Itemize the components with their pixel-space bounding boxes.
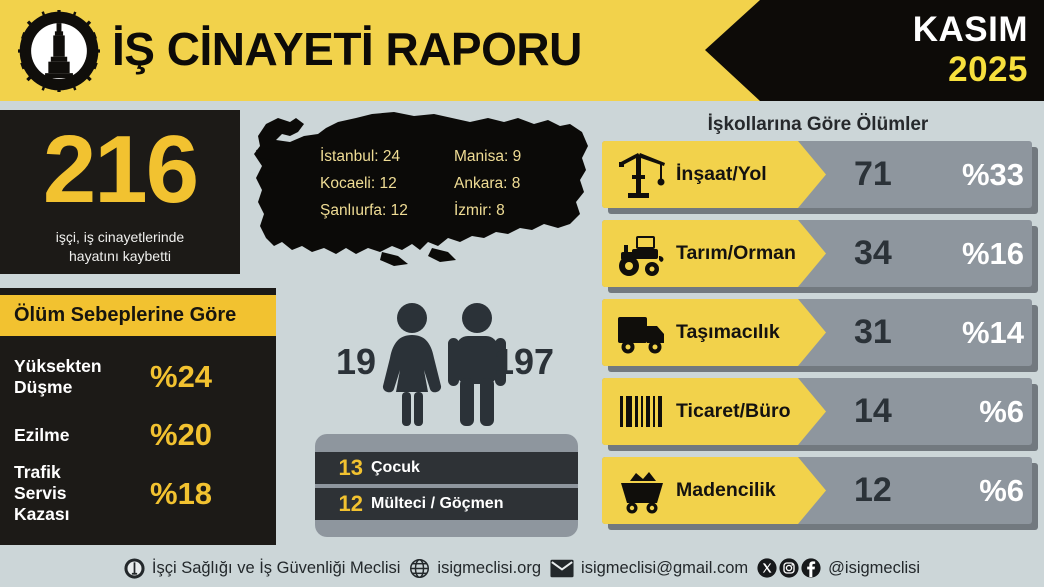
- cause-percent: %20: [150, 418, 212, 452]
- x-twitter-icon[interactable]: [757, 558, 777, 578]
- sector-percent: %14: [962, 299, 1024, 366]
- cause-label: Trafik Servis Kazası: [0, 462, 150, 525]
- cause-percent: %18: [150, 477, 212, 511]
- cause-label-line: Servis: [14, 483, 150, 504]
- truck-icon: [616, 307, 668, 358]
- report-month: KASIM: [913, 10, 1028, 50]
- city-item: İstanbul: 24: [320, 144, 436, 169]
- mine-cart-icon: [616, 465, 668, 516]
- cause-percent: %24: [150, 360, 212, 394]
- city-death-list: İstanbul: 24 Manisa: 9 Kocaeli: 12 Ankar…: [320, 144, 580, 223]
- vulnerable-groups-box: 13 Çocuk 12 Mülteci / Göçmen: [315, 434, 578, 537]
- tractor-icon: [616, 228, 668, 279]
- female-death-count: 19: [316, 342, 376, 382]
- cause-row: Yüksekten Düşme %24: [0, 356, 276, 398]
- footer-bar: İşçi Sağlığı ve İş Güvenliği Meclisi isi…: [0, 549, 1044, 587]
- group-count: 13: [315, 455, 371, 481]
- total-deaths-panel: 216 işçi, iş cinayetlerinde hayatını kay…: [0, 110, 240, 274]
- city-item: Kocaeli: 12: [320, 171, 436, 196]
- cause-label: Ezilme: [0, 425, 150, 446]
- sector-value: 14: [854, 378, 944, 445]
- sector-name: Tarım/Orman: [676, 220, 796, 287]
- sector-percent: %6: [979, 457, 1024, 524]
- caption-line-1: işçi, iş cinayetlerinde: [12, 228, 228, 247]
- group-label: Mülteci / Göçmen: [371, 494, 503, 514]
- sector-value: 34: [854, 220, 944, 287]
- sector-name: Ticaret/Büro: [676, 378, 791, 445]
- footer-social-label: @isigmeclisi: [828, 559, 920, 578]
- infographic-root: İŞ CİNAYETİ RAPORU KASIM 2025 216 işçi, …: [0, 0, 1044, 587]
- report-year: 2025: [948, 50, 1028, 90]
- footer-email[interactable]: isigmeclisi@gmail.com: [550, 559, 748, 578]
- envelope-icon: [550, 559, 574, 578]
- turkey-map: İstanbul: 24 Manisa: 9 Kocaeli: 12 Ankar…: [252, 106, 592, 278]
- sector-bar-row: Ticaret/Büro 14 %6: [602, 378, 1038, 451]
- sector-name: Madencilik: [676, 457, 776, 524]
- sector-value: 31: [854, 299, 944, 366]
- death-causes-panel: Ölüm Sebeplerine Göre Yüksekten Düşme %2…: [0, 288, 276, 545]
- sector-percent: %33: [962, 141, 1024, 208]
- sector-percent: %16: [962, 220, 1024, 287]
- causes-heading: Ölüm Sebeplerine Göre: [0, 295, 276, 336]
- footer-website-label: isigmeclisi.org: [437, 559, 541, 578]
- barcode-icon: [616, 386, 668, 437]
- cause-label-line: Ezilme: [14, 425, 150, 446]
- cause-row: Ezilme %20: [0, 418, 276, 452]
- city-item: Şanlıurfa: 12: [320, 198, 436, 223]
- sector-name: Taşımacılık: [676, 299, 780, 366]
- cause-label-line: Düşme: [14, 377, 150, 398]
- footer-org: İşçi Sağlığı ve İş Güvenliği Meclisi: [124, 558, 401, 579]
- globe-icon: [409, 558, 430, 579]
- crane-icon: [616, 149, 668, 200]
- isig-gear-clocktower-logo-icon: [18, 10, 100, 92]
- header-bar: İŞ CİNAYETİ RAPORU KASIM 2025: [0, 0, 1044, 101]
- cause-label: Yüksekten Düşme: [0, 356, 150, 398]
- city-item: Ankara: 8: [454, 171, 564, 196]
- female-figure-icon: [378, 300, 446, 428]
- footer-org-label: İşçi Sağlığı ve İş Güvenliği Meclisi: [152, 559, 401, 578]
- sector-bar-row: İnşaat/Yol 71 %33: [602, 141, 1038, 214]
- sector-percent: %6: [979, 378, 1024, 445]
- city-item: İzmir: 8: [454, 198, 564, 223]
- gender-breakdown: 19 197: [310, 296, 585, 428]
- group-label: Çocuk: [371, 458, 420, 478]
- group-row-children: 13 Çocuk: [315, 452, 578, 484]
- sector-bar-row: Taşımacılık 31 %14: [602, 299, 1038, 372]
- total-deaths-count: 216: [0, 118, 240, 222]
- total-deaths-caption: işçi, iş cinayetlerinde hayatını kaybett…: [12, 228, 228, 266]
- cause-label-line: Trafik: [14, 462, 150, 483]
- sector-bar-row: Madencilik 12 %6: [602, 457, 1038, 530]
- male-death-count: 197: [494, 342, 586, 382]
- sector-bar-row: Tarım/Orman 34 %16: [602, 220, 1038, 293]
- page-title: İŞ CİNAYETİ RAPORU: [112, 18, 582, 80]
- group-row-refugees: 12 Mülteci / Göçmen: [315, 488, 578, 520]
- footer-website[interactable]: isigmeclisi.org: [409, 558, 541, 579]
- city-item: Manisa: 9: [454, 144, 564, 169]
- group-count: 12: [315, 491, 371, 517]
- caption-line-2: hayatını kaybetti: [12, 247, 228, 266]
- isig-logo-icon: [124, 558, 145, 579]
- social-icon-group: [757, 558, 821, 578]
- sector-value: 12: [854, 457, 944, 524]
- cause-label-line: Kazası: [14, 504, 150, 525]
- sector-value: 71: [854, 141, 944, 208]
- sectors-chart-title: İşkollarına Göre Ölümler: [596, 114, 1040, 136]
- footer-email-label: isigmeclisi@gmail.com: [581, 559, 748, 578]
- cause-row: Trafik Servis Kazası %18: [0, 462, 276, 525]
- footer-social[interactable]: @isigmeclisi: [757, 558, 920, 578]
- cause-label-line: Yüksekten: [14, 356, 150, 377]
- sector-name: İnşaat/Yol: [676, 141, 767, 208]
- facebook-icon[interactable]: [801, 558, 821, 578]
- instagram-icon[interactable]: [779, 558, 799, 578]
